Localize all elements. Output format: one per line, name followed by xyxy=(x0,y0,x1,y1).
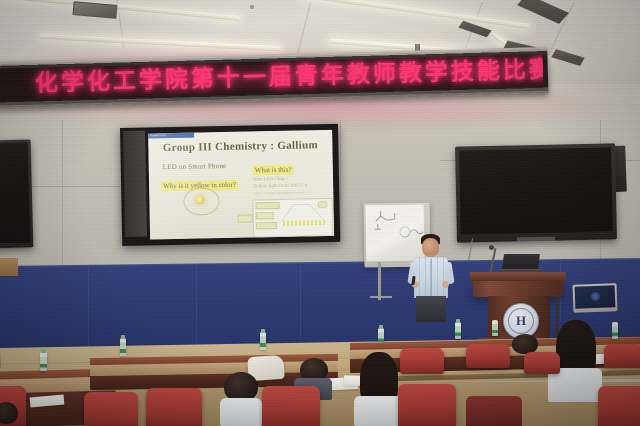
wainscot-seam xyxy=(88,266,89,348)
left-tv-screen xyxy=(0,142,30,243)
presenter-trousers xyxy=(416,296,446,322)
chair xyxy=(400,348,444,374)
chair xyxy=(84,392,138,426)
left-wood-trim xyxy=(0,258,18,276)
slide-diagram-label-2 xyxy=(256,212,274,219)
audience-torso xyxy=(220,398,262,426)
screen-shadow-band xyxy=(123,131,147,237)
slide-left-heading: LED on Smart Phone xyxy=(163,162,243,172)
right-tv-stand xyxy=(517,237,555,242)
emblem-letter: H xyxy=(504,314,538,327)
shirt-stripe xyxy=(419,257,420,298)
bottle-cap xyxy=(456,319,460,323)
projection-screen: PowerPoint Group III Chemistry : Gallium… xyxy=(120,124,340,246)
slide-left-badge xyxy=(238,214,253,222)
slide-right-highlight: What is this? xyxy=(253,165,294,176)
shirt-stripe xyxy=(425,257,426,298)
water-bottle xyxy=(612,322,618,339)
chair xyxy=(146,388,202,426)
slide-diagram-label-3 xyxy=(256,222,277,229)
audience-torso xyxy=(354,396,402,426)
chair xyxy=(398,384,456,426)
water-bottle xyxy=(260,332,266,350)
bottle-cap xyxy=(41,349,46,353)
slide-titlebar-text: PowerPoint xyxy=(148,133,194,139)
slide-right-highlight-wrap: What is this? xyxy=(253,159,294,178)
chair xyxy=(604,344,640,368)
water-bottle xyxy=(120,338,126,356)
laptop-lid xyxy=(502,254,540,270)
presenter-right-hand xyxy=(442,281,449,288)
water-bottle xyxy=(492,320,498,336)
chair xyxy=(262,386,320,426)
side-monitor-glow xyxy=(591,292,600,301)
bottle-cap xyxy=(121,335,125,339)
water-bottle xyxy=(455,322,461,339)
whiteboard-leg xyxy=(378,262,381,300)
chair xyxy=(466,396,522,426)
led-banner-text: 化学化工学院第十一届青年教师教学技能比赛 xyxy=(35,55,544,99)
right-wall-tv xyxy=(455,143,617,242)
podium-upper xyxy=(473,281,563,297)
microphone-head xyxy=(489,245,494,250)
left-wall-tv xyxy=(0,139,33,248)
side-monitor xyxy=(573,283,618,313)
slide-diagram-label-1 xyxy=(255,202,279,209)
water-bottle xyxy=(40,352,47,371)
wall-panel-seam xyxy=(340,120,341,240)
wainscot-seam xyxy=(300,266,301,338)
whiteboard-glare xyxy=(366,205,425,262)
shirt-placket xyxy=(430,259,432,298)
slide-title: Group III Chemistry : Gallium xyxy=(156,139,324,154)
whiteboard-surface xyxy=(366,205,425,262)
chair xyxy=(598,386,640,426)
shirt-stripe xyxy=(437,257,438,298)
bottle-cap xyxy=(379,325,383,329)
bottle-cap xyxy=(261,329,265,333)
presentation-slide: PowerPoint Group III Chemistry : Gallium… xyxy=(148,130,334,240)
screen-surface: PowerPoint Group III Chemistry : Gallium… xyxy=(148,130,334,240)
chair xyxy=(466,344,510,368)
slide-right-line-3: YAG = Yttrium Aluminium Garnet xyxy=(253,190,329,196)
lecture-hall-photo: 化学化工学院第十一届青年教师教学技能比赛 PowerPoint Group II… xyxy=(0,0,640,426)
side-monitor-screen xyxy=(575,285,616,308)
right-tv-screen xyxy=(459,147,613,234)
audience-head xyxy=(512,334,538,354)
slide-right-line-2: Yellow light from YAG:Ce xyxy=(253,182,329,190)
slide-diagram-lines xyxy=(279,202,329,223)
whiteboard-leg xyxy=(370,296,392,298)
wall-panel-seam xyxy=(62,120,63,270)
sprinkler-head xyxy=(250,5,254,9)
wainscot-seam xyxy=(196,266,197,346)
slide-app-titlebar: PowerPoint xyxy=(148,133,194,139)
chair xyxy=(524,352,560,374)
